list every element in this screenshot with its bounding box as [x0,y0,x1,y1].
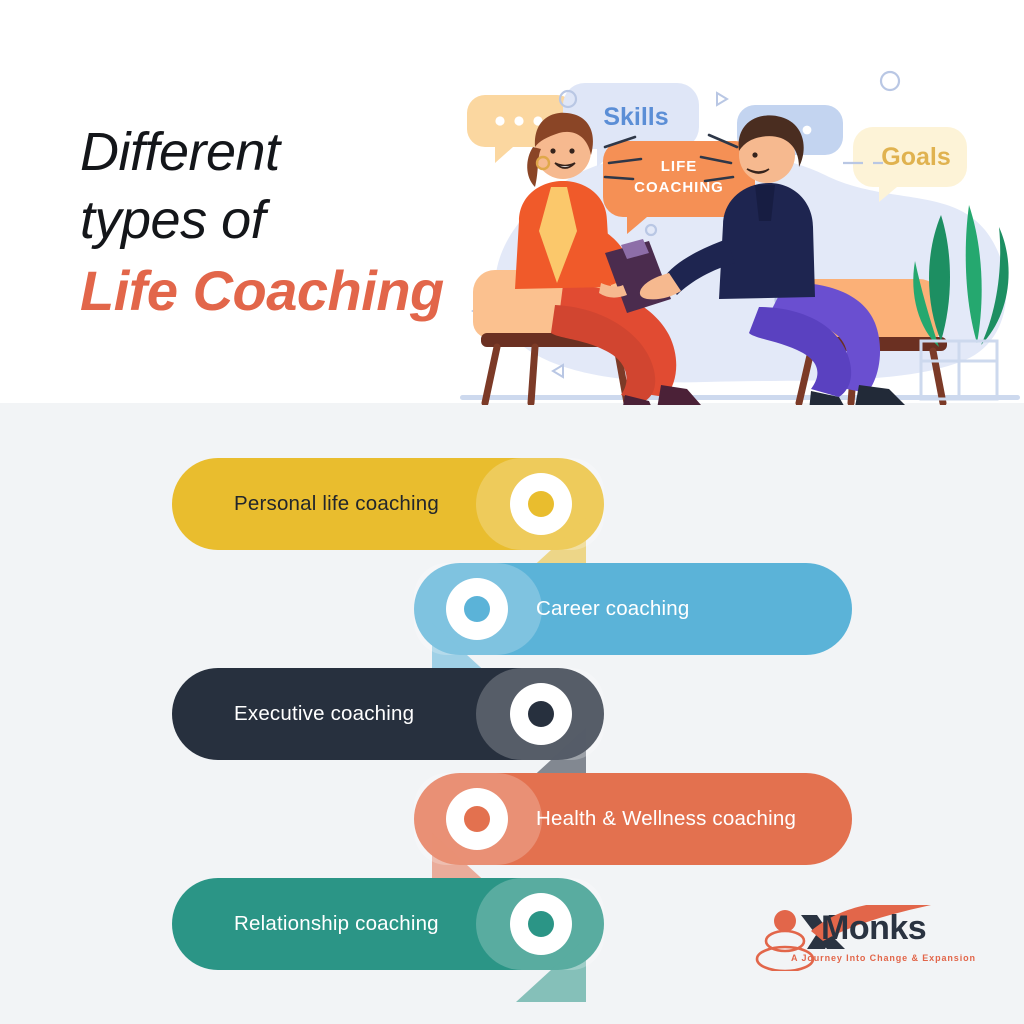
coaching-pill[interactable]: Personal life coaching [172,458,604,550]
pill-bullet-dot [464,596,490,622]
coaching-pill-label: Personal life coaching [234,492,439,516]
coaching-pill[interactable]: Health & Wellness coaching [414,773,852,865]
title-line-2: types of [80,186,480,254]
pill-bullet-icon[interactable] [446,788,508,850]
title-line-1: Different [80,118,480,186]
coaching-pill-label: Career coaching [536,597,689,621]
pill-bullet-dot [528,491,554,517]
infographic-canvas: Different types of Life Coaching Skills [0,0,1024,1024]
pill-bullet-dot [528,911,554,937]
title-accent: Life Coaching [80,254,480,328]
pill-bullet-icon[interactable] [510,683,572,745]
pill-bullet-icon[interactable] [446,578,508,640]
pill-bullet-icon[interactable] [510,893,572,955]
life-coaching-illustration: Skills LIFE COACHING [455,55,1024,405]
bubble-skills-label: Skills [603,103,668,131]
coaching-pill-label: Health & Wellness coaching [536,807,796,831]
bubble-life-label: LIFE [661,158,698,175]
pill-bullet-dot [464,806,490,832]
bubble-coaching-label: COACHING [634,179,724,196]
pill-bullet-dot [528,701,554,727]
coaching-pill-label: Relationship coaching [234,912,439,936]
xmonks-logo[interactable]: Monks A Journey Into Change & Expansion [755,903,965,973]
coaching-pill[interactable]: Executive coaching [172,668,604,760]
bubble-goals-label: Goals [881,143,950,171]
logo-tagline: A Journey Into Change & Expansion [791,953,976,963]
page-title: Different types of Life Coaching [80,118,480,328]
pill-bullet-icon[interactable] [510,473,572,535]
coaching-pill-label: Executive coaching [234,702,414,726]
logo-wordmark: Monks [821,909,926,948]
coaching-pill[interactable]: Relationship coaching [172,878,604,970]
coaching-pill[interactable]: Career coaching [414,563,852,655]
